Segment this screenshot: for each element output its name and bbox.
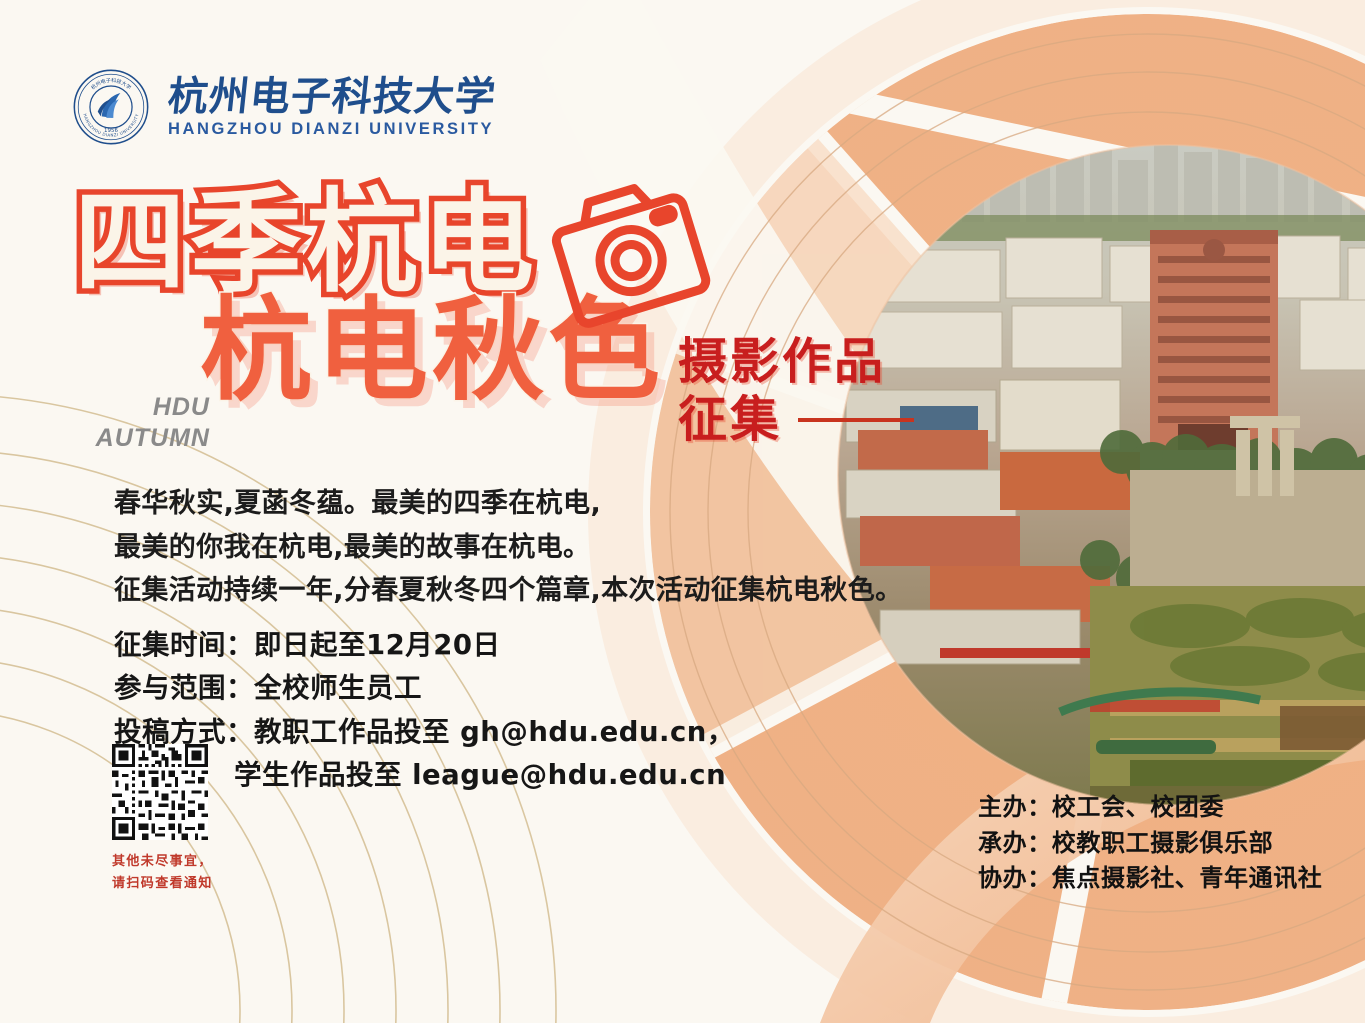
subhead-block: 摄影作品 征集 xyxy=(678,333,914,449)
subhead-line-2: 征集 xyxy=(678,391,782,449)
svg-text:杭州电子科技大学: 杭州电子科技大学 xyxy=(90,77,133,91)
poster-canvas: 1956 杭州电子科技大学 HANGZHOU DIANZI UNIVERSITY… xyxy=(0,0,1365,1023)
university-seal-icon: 1956 杭州电子科技大学 HANGZHOU DIANZI UNIVERSITY xyxy=(72,68,150,146)
body-copy: 春华秋实,夏菡冬蕴。最美的四季在杭电, 最美的你我在杭电,最美的故事在杭电。 征… xyxy=(114,482,903,613)
detail-scope-value: 全校师生员工 xyxy=(254,672,422,704)
body-line-2: 最美的你我在杭电,最美的故事在杭电。 xyxy=(114,526,903,570)
detail-scope-label: 参与范围： xyxy=(114,672,254,704)
credit-organizer: 主办：校工会、校团委 xyxy=(978,790,1322,826)
body-line-1: 春华秋实,夏菡冬蕴。最美的四季在杭电, xyxy=(114,482,903,526)
detail-deadline-value: 即日起至12月20日 xyxy=(254,629,501,661)
university-logo: 1956 杭州电子科技大学 HANGZHOU DIANZI UNIVERSITY… xyxy=(72,68,496,146)
qr-caption-line-2: 请扫码查看通知 xyxy=(112,872,213,894)
title-line-1: 四季杭电 xyxy=(74,187,538,299)
detail-scope: 参与范围：全校师生员工 xyxy=(114,667,735,710)
subhead-rule xyxy=(798,418,914,422)
detail-deadline: 征集时间：即日起至12月20日 xyxy=(114,624,735,667)
qr-block: 其他未尽事宜， 请扫码查看通知 xyxy=(112,744,213,894)
credits-block: 主办：校工会、校团委 承办：校教职工摄影俱乐部 协办：焦点摄影社、青年通讯社 xyxy=(978,790,1322,897)
qr-caption-line-1: 其他未尽事宜， xyxy=(112,850,213,872)
detail-deadline-label: 征集时间： xyxy=(114,629,254,661)
latin-subtitle: HDU AUTUMN xyxy=(62,392,210,453)
detail-submit-staff: 教职工作品投至 gh@hdu.edu.cn， xyxy=(254,716,735,748)
latin-subtitle-line-1: HDU xyxy=(62,392,210,423)
university-name-en: HANGZHOU DIANZI UNIVERSITY xyxy=(168,121,496,138)
credit-coorganizer: 协办：焦点摄影社、青年通讯社 xyxy=(978,861,1322,897)
qr-caption: 其他未尽事宜， 请扫码查看通知 xyxy=(112,850,213,894)
subhead-line-1: 摄影作品 xyxy=(678,333,914,391)
credit-undertaker: 承办：校教职工摄影俱乐部 xyxy=(978,826,1322,862)
qr-code-icon[interactable] xyxy=(112,744,208,840)
university-name-cn: 杭州电子科技大学 xyxy=(166,77,498,117)
camera-icon xyxy=(543,168,723,353)
body-line-3: 征集活动持续一年,分春夏秋冬四个篇章,本次活动征集杭电秋色。 xyxy=(114,569,903,613)
latin-subtitle-line-2: AUTUMN xyxy=(62,423,210,454)
